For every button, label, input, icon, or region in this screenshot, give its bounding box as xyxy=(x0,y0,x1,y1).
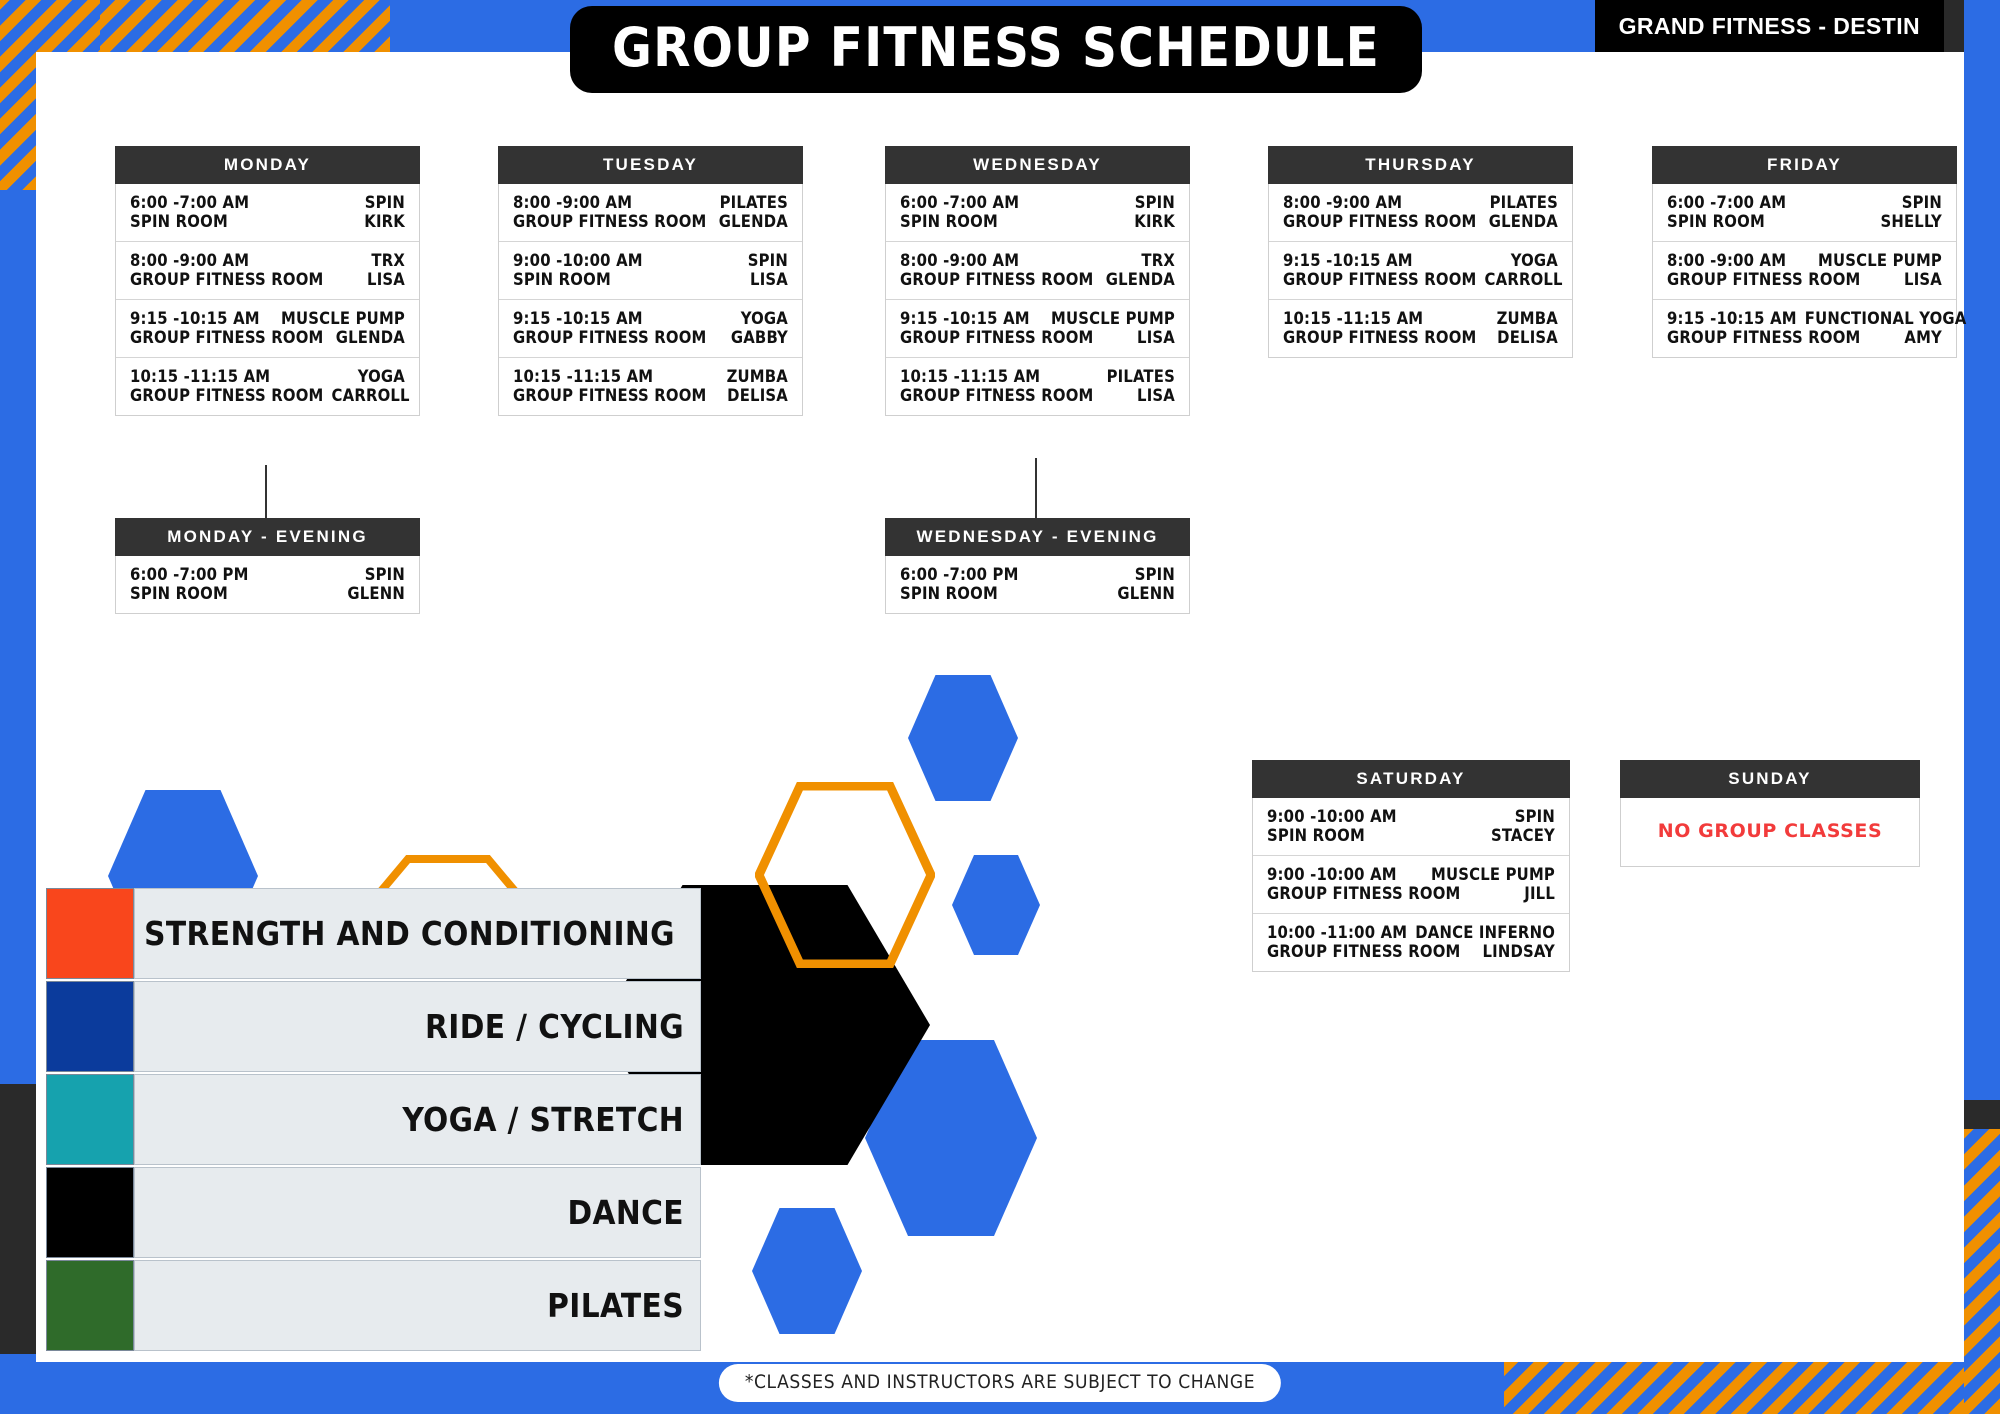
legend-label: YOGA / STRETCH xyxy=(402,1100,684,1139)
slot-instructor: GLENDA xyxy=(1489,212,1558,231)
slot-room: SPIN ROOM xyxy=(900,584,998,603)
slot-class-name: YOGA xyxy=(741,309,788,328)
slot-room: GROUP FITNESS ROOM xyxy=(1667,270,1861,289)
day-header-wednesday-evening: WEDNESDAY - EVENING xyxy=(885,518,1190,556)
slot-instructor: GABBY xyxy=(731,328,788,347)
slot-instructor: LISA xyxy=(750,270,788,289)
slot-time: 6:00 -7:00 PM xyxy=(900,565,1019,584)
slot-room: GROUP FITNESS ROOM xyxy=(900,386,1094,405)
slot-instructor: AMY xyxy=(1904,328,1942,347)
class-slot[interactable]: 9:15 -10:15 AMYOGAGROUP FITNESS ROOMGABB… xyxy=(499,300,802,358)
class-slot[interactable]: 9:00 -10:00 AMSPINSPIN ROOMLISA xyxy=(499,242,802,300)
slot-time: 8:00 -9:00 AM xyxy=(900,251,1019,270)
slot-instructor: DELISA xyxy=(1497,328,1558,347)
slot-room: GROUP FITNESS ROOM xyxy=(900,328,1094,347)
slot-instructor: GLENN xyxy=(347,584,405,603)
legend-label-box: RIDE / CYCLING xyxy=(134,981,701,1072)
legend-label: PILATES xyxy=(547,1286,684,1325)
slot-time: 10:00 -11:00 AM xyxy=(1267,923,1407,942)
slot-room: GROUP FITNESS ROOM xyxy=(130,386,324,405)
class-slot[interactable]: 6:00 -7:00 AMSPINSPIN ROOMSHELLY xyxy=(1653,184,1956,242)
slot-instructor: LISA xyxy=(1904,270,1942,289)
day-body-thursday: 8:00 -9:00 AMPILATESGROUP FITNESS ROOMGL… xyxy=(1268,184,1573,358)
slot-room: GROUP FITNESS ROOM xyxy=(513,386,707,405)
day-header-saturday: SATURDAY xyxy=(1252,760,1570,798)
slot-room: GROUP FITNESS ROOM xyxy=(130,328,324,347)
slot-instructor: JILL xyxy=(1524,884,1555,903)
legend-row[interactable]: STRENGTH AND CONDITIONING xyxy=(46,888,701,979)
day-card-monday-evening: MONDAY - EVENING6:00 -7:00 PMSPINSPIN RO… xyxy=(115,518,420,614)
class-slot[interactable]: 8:00 -9:00 AMTRXGROUP FITNESS ROOMGLENDA xyxy=(886,242,1189,300)
slot-room: GROUP FITNESS ROOM xyxy=(513,328,707,347)
slot-room: SPIN ROOM xyxy=(130,584,228,603)
slot-time: 8:00 -9:00 AM xyxy=(130,251,249,270)
day-header-wednesday: WEDNESDAY xyxy=(885,146,1190,184)
slot-time: 9:15 -10:15 AM xyxy=(1667,309,1797,328)
slot-class-name: SPIN xyxy=(365,193,405,212)
slot-instructor: GLENDA xyxy=(719,212,788,231)
slot-time: 8:00 -9:00 AM xyxy=(1667,251,1786,270)
slot-time: 9:15 -10:15 AM xyxy=(1283,251,1413,270)
slot-time: 10:15 -11:15 AM xyxy=(513,367,653,386)
day-body-wednesday: 6:00 -7:00 AMSPINSPIN ROOMKIRK8:00 -9:00… xyxy=(885,184,1190,416)
slot-room: SPIN ROOM xyxy=(513,270,611,289)
legend-color-swatch xyxy=(46,1260,134,1351)
slot-room: GROUP FITNESS ROOM xyxy=(900,270,1094,289)
class-slot[interactable]: 8:00 -9:00 AMPILATESGROUP FITNESS ROOMGL… xyxy=(1269,184,1572,242)
class-slot[interactable]: 6:00 -7:00 AMSPINSPIN ROOMKIRK xyxy=(116,184,419,242)
slot-class-name: SPIN xyxy=(1902,193,1942,212)
slot-class-name: SPIN xyxy=(1135,193,1175,212)
class-slot[interactable]: 6:00 -7:00 PMSPINSPIN ROOMGLENN xyxy=(886,556,1189,613)
day-header-thursday: THURSDAY xyxy=(1268,146,1573,184)
slot-instructor: LINDSAY xyxy=(1483,942,1555,961)
day-header-sunday: SUNDAY xyxy=(1620,760,1920,798)
class-slot[interactable]: 8:00 -9:00 AMPILATESGROUP FITNESS ROOMGL… xyxy=(499,184,802,242)
class-slot[interactable]: 10:15 -11:15 AMYOGAGROUP FITNESS ROOMCAR… xyxy=(116,358,419,415)
slot-instructor: CARROLL xyxy=(332,386,410,405)
slot-time: 8:00 -9:00 AM xyxy=(513,193,632,212)
slot-class-name: MUSCLE PUMP xyxy=(1431,865,1555,884)
slot-class-name: DANCE INFERNO xyxy=(1415,923,1555,942)
legend-color-swatch xyxy=(46,981,134,1072)
slot-room: GROUP FITNESS ROOM xyxy=(1283,270,1477,289)
day-card-thursday: THURSDAY8:00 -9:00 AMPILATESGROUP FITNES… xyxy=(1268,146,1573,358)
slot-class-name: SPIN xyxy=(1515,807,1555,826)
page-title: GROUP FITNESS SCHEDULE xyxy=(570,6,1422,93)
slot-instructor: GLENDA xyxy=(1106,270,1175,289)
slot-class-name: ZUMBA xyxy=(1497,309,1558,328)
class-slot[interactable]: 9:15 -10:15 AMMUSCLE PUMPGROUP FITNESS R… xyxy=(886,300,1189,358)
decor-blue-right-band xyxy=(1964,0,2000,1100)
legend-label-box: YOGA / STRETCH xyxy=(134,1074,701,1165)
slot-time: 10:15 -11:15 AM xyxy=(1283,309,1423,328)
slot-room: GROUP FITNESS ROOM xyxy=(1283,212,1477,231)
day-card-wednesday-evening: WEDNESDAY - EVENING6:00 -7:00 PMSPINSPIN… xyxy=(885,518,1190,614)
legend-row[interactable]: RIDE / CYCLING xyxy=(46,981,701,1072)
slot-time: 8:00 -9:00 AM xyxy=(1283,193,1402,212)
class-slot[interactable]: 10:15 -11:15 AMZUMBAGROUP FITNESS ROOMDE… xyxy=(499,358,802,415)
day-card-sunday: SUNDAYNO GROUP CLASSES xyxy=(1620,760,1920,867)
class-type-legend: STRENGTH AND CONDITIONINGRIDE / CYCLINGY… xyxy=(46,888,701,1353)
slot-instructor: CARROLL xyxy=(1485,270,1563,289)
class-slot[interactable]: 9:00 -10:00 AMSPINSPIN ROOMSTACEY xyxy=(1253,798,1569,856)
class-slot[interactable]: 9:15 -10:15 AMMUSCLE PUMPGROUP FITNESS R… xyxy=(116,300,419,358)
slot-class-name: SPIN xyxy=(365,565,405,584)
slot-room: GROUP FITNESS ROOM xyxy=(513,212,707,231)
slot-instructor: GLENDA xyxy=(336,328,405,347)
brand-label: GRAND FITNESS - DESTIN xyxy=(1595,0,1944,52)
day-card-saturday: SATURDAY9:00 -10:00 AMSPINSPIN ROOMSTACE… xyxy=(1252,760,1570,972)
day-header-friday: FRIDAY xyxy=(1652,146,1957,184)
slot-room: GROUP FITNESS ROOM xyxy=(1283,328,1477,347)
class-slot[interactable]: 9:15 -10:15 AMFUNCTIONAL YOGAGROUP FITNE… xyxy=(1653,300,1956,357)
slot-time: 9:00 -10:00 AM xyxy=(1267,807,1397,826)
slot-time: 10:15 -11:15 AM xyxy=(130,367,270,386)
slot-class-name: SPIN xyxy=(748,251,788,270)
day-body-tuesday: 8:00 -9:00 AMPILATESGROUP FITNESS ROOMGL… xyxy=(498,184,803,416)
day-body-friday: 6:00 -7:00 AMSPINSPIN ROOMSHELLY8:00 -9:… xyxy=(1652,184,1957,358)
slot-room: SPIN ROOM xyxy=(130,212,228,231)
decor-stripes-right xyxy=(1964,1129,2000,1414)
slot-time: 9:15 -10:15 AM xyxy=(900,309,1030,328)
slot-class-name: PILATES xyxy=(1490,193,1558,212)
slot-instructor: GLENN xyxy=(1117,584,1175,603)
class-slot[interactable]: 8:00 -9:00 AMTRXGROUP FITNESS ROOMLISA xyxy=(116,242,419,300)
day-body-monday: 6:00 -7:00 AMSPINSPIN ROOMKIRK8:00 -9:00… xyxy=(115,184,420,416)
legend-row[interactable]: PILATES xyxy=(46,1260,701,1351)
legend-label-box: STRENGTH AND CONDITIONING xyxy=(134,888,701,979)
slot-instructor: LISA xyxy=(367,270,405,289)
slot-class-name: MUSCLE PUMP xyxy=(1818,251,1942,270)
day-card-wednesday: WEDNESDAY6:00 -7:00 AMSPINSPIN ROOMKIRK8… xyxy=(885,146,1190,416)
legend-color-swatch xyxy=(46,888,134,979)
slot-class-name: TRX xyxy=(1141,251,1175,270)
day-header-monday-evening: MONDAY - EVENING xyxy=(115,518,420,556)
class-slot[interactable]: 8:00 -9:00 AMMUSCLE PUMPGROUP FITNESS RO… xyxy=(1653,242,1956,300)
day-body-monday-evening: 6:00 -7:00 PMSPINSPIN ROOMGLENN xyxy=(115,556,420,614)
hexagon-outline-large xyxy=(755,782,935,968)
slot-instructor: SHELLY xyxy=(1880,212,1942,231)
slot-time: 10:15 -11:15 AM xyxy=(900,367,1040,386)
slot-room: SPIN ROOM xyxy=(900,212,998,231)
slot-class-name: ZUMBA xyxy=(727,367,788,386)
legend-row[interactable]: YOGA / STRETCH xyxy=(46,1074,701,1165)
slot-time: 6:00 -7:00 AM xyxy=(130,193,249,212)
slot-class-name: MUSCLE PUMP xyxy=(1051,309,1175,328)
class-slot[interactable]: 6:00 -7:00 AMSPINSPIN ROOMKIRK xyxy=(886,184,1189,242)
no-classes-message: NO GROUP CLASSES xyxy=(1621,798,1919,866)
class-slot[interactable]: 9:15 -10:15 AMYOGAGROUP FITNESS ROOMCARR… xyxy=(1269,242,1572,300)
slot-time: 6:00 -7:00 PM xyxy=(130,565,249,584)
slot-instructor: LISA xyxy=(1137,386,1175,405)
legend-label-box: PILATES xyxy=(134,1260,701,1351)
legend-color-swatch xyxy=(46,1074,134,1165)
slot-room: SPIN ROOM xyxy=(1267,826,1365,845)
poster-root: GROUP FITNESS SCHEDULE GRAND FITNESS - D… xyxy=(0,0,2000,1414)
slot-class-name: MUSCLE PUMP xyxy=(281,309,405,328)
slot-class-name: YOGA xyxy=(1511,251,1558,270)
slot-instructor: STACEY xyxy=(1491,826,1555,845)
class-slot[interactable]: 10:15 -11:15 AMZUMBAGROUP FITNESS ROOMDE… xyxy=(1269,300,1572,357)
slot-instructor: KIRK xyxy=(364,212,405,231)
slot-class-name: TRX xyxy=(371,251,405,270)
day-body-sunday: NO GROUP CLASSES xyxy=(1620,798,1920,867)
slot-class-name: PILATES xyxy=(720,193,788,212)
slot-class-name: YOGA xyxy=(358,367,405,386)
slot-time: 6:00 -7:00 AM xyxy=(900,193,1019,212)
slot-time: 9:15 -10:15 AM xyxy=(130,309,260,328)
slot-instructor: DELISA xyxy=(727,386,788,405)
legend-label: STRENGTH AND CONDITIONING xyxy=(144,914,675,953)
decor-stripes-bottom-right xyxy=(1504,1354,1964,1414)
class-slot[interactable]: 10:00 -11:00 AMDANCE INFERNOGROUP FITNES… xyxy=(1253,914,1569,971)
day-body-wednesday-evening: 6:00 -7:00 PMSPINSPIN ROOMGLENN xyxy=(885,556,1190,614)
slot-room: GROUP FITNESS ROOM xyxy=(1267,884,1461,903)
slot-time: 9:00 -10:00 AM xyxy=(1267,865,1397,884)
slot-class-name: FUNCTIONAL YOGA xyxy=(1805,309,1967,328)
slot-time: 9:15 -10:15 AM xyxy=(513,309,643,328)
class-slot[interactable]: 10:15 -11:15 AMPILATESGROUP FITNESS ROOM… xyxy=(886,358,1189,415)
day-header-tuesday: TUESDAY xyxy=(498,146,803,184)
slot-time: 9:00 -10:00 AM xyxy=(513,251,643,270)
legend-row[interactable]: DANCE xyxy=(46,1167,701,1258)
legend-label: DANCE xyxy=(567,1193,684,1232)
legend-label: RIDE / CYCLING xyxy=(425,1007,684,1046)
legend-label-box: DANCE xyxy=(134,1167,701,1258)
slot-room: SPIN ROOM xyxy=(1667,212,1765,231)
class-slot[interactable]: 6:00 -7:00 PMSPINSPIN ROOMGLENN xyxy=(116,556,419,613)
day-card-monday: MONDAY6:00 -7:00 AMSPINSPIN ROOMKIRK8:00… xyxy=(115,146,420,416)
slot-class-name: PILATES xyxy=(1107,367,1175,386)
day-header-monday: MONDAY xyxy=(115,146,420,184)
legend-color-swatch xyxy=(46,1167,134,1258)
slot-instructor: KIRK xyxy=(1134,212,1175,231)
slot-room: GROUP FITNESS ROOM xyxy=(1267,942,1461,961)
slot-instructor: LISA xyxy=(1137,328,1175,347)
slot-room: GROUP FITNESS ROOM xyxy=(1667,328,1861,347)
class-slot[interactable]: 9:00 -10:00 AMMUSCLE PUMPGROUP FITNESS R… xyxy=(1253,856,1569,914)
day-body-saturday: 9:00 -10:00 AMSPINSPIN ROOMSTACEY9:00 -1… xyxy=(1252,798,1570,972)
slot-class-name: SPIN xyxy=(1135,565,1175,584)
day-card-friday: FRIDAY6:00 -7:00 AMSPINSPIN ROOMSHELLY8:… xyxy=(1652,146,1957,358)
footer-disclaimer: *CLASSES AND INSTRUCTORS ARE SUBJECT TO … xyxy=(719,1364,1281,1402)
slot-room: GROUP FITNESS ROOM xyxy=(130,270,324,289)
slot-time: 6:00 -7:00 AM xyxy=(1667,193,1786,212)
day-card-tuesday: TUESDAY8:00 -9:00 AMPILATESGROUP FITNESS… xyxy=(498,146,803,416)
